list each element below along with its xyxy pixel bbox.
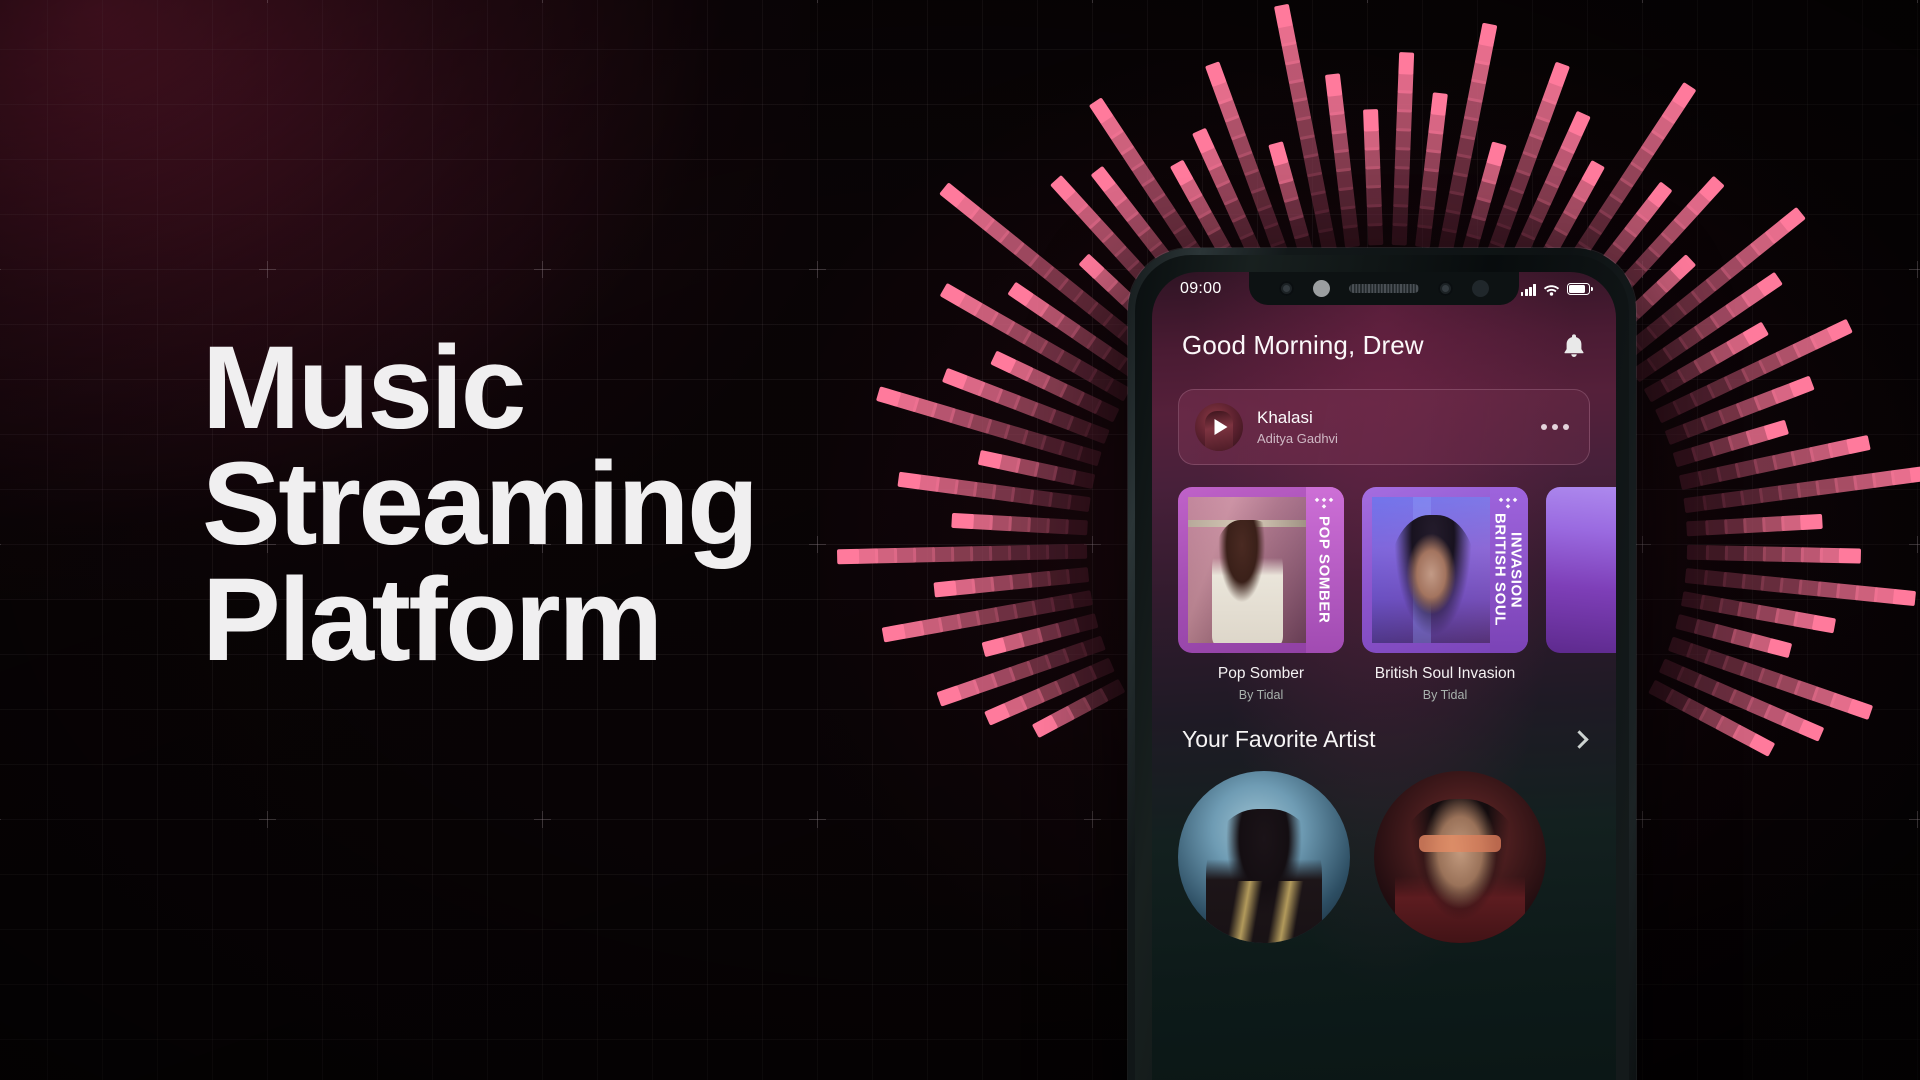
now-playing-artist: Aditya Gadhvi <box>1257 431 1527 446</box>
tidal-logo-icon <box>1497 495 1519 509</box>
photo-figure <box>1212 520 1283 643</box>
headline-line-1: Music <box>202 330 922 446</box>
favorite-artist-header[interactable]: Your Favorite Artist <box>1152 702 1616 753</box>
status-bar-icons <box>1521 283 1590 296</box>
now-playing-artwork[interactable] <box>1195 403 1243 451</box>
phone-mockup: 09:00 Good Morning, Drew <box>1128 248 1636 1080</box>
signal-icon <box>1521 283 1536 296</box>
app-header: Good Morning, Drew <box>1152 306 1616 361</box>
album-card-pop-somber[interactable]: POP SOMBER Pop Somber By Tidal <box>1178 487 1344 702</box>
cover-word-2: INVASION <box>1509 532 1524 608</box>
wifi-icon <box>1543 283 1560 296</box>
cover-word-1: BRITISH SOUL <box>1493 513 1508 626</box>
album-cover[interactable]: BRITISH SOUL INVASION <box>1362 487 1528 653</box>
hero-headline: Music Streaming Platform <box>202 330 922 679</box>
app-content: Good Morning, Drew Khalasi <box>1152 306 1616 1080</box>
album-publisher: By Tidal <box>1362 688 1528 702</box>
album-card-next-partial[interactable] <box>1546 487 1616 702</box>
album-cover[interactable]: POP SOMBER <box>1178 487 1344 653</box>
album-cover-photo <box>1188 497 1310 643</box>
greeting-title: Good Morning, Drew <box>1182 330 1424 361</box>
artist-strap <box>1216 881 1312 943</box>
artist-figure <box>1395 799 1526 943</box>
album-publisher: By Tidal <box>1178 688 1344 702</box>
album-title: British Soul Invasion <box>1362 665 1528 683</box>
more-horizontal-icon[interactable] <box>1541 424 1573 430</box>
headline-line-3: Platform <box>202 562 922 678</box>
status-bar: 09:00 <box>1152 272 1616 306</box>
now-playing-meta: Khalasi Aditya Gadhvi <box>1257 408 1527 446</box>
photo-figure <box>1389 515 1477 643</box>
album-title: Pop Somber <box>1178 665 1344 683</box>
artist-avatar[interactable] <box>1374 771 1546 943</box>
cover-word-1: POP SOMBER <box>1317 516 1332 623</box>
album-cover-photo <box>1372 497 1494 643</box>
album-cover[interactable] <box>1546 487 1616 653</box>
play-icon[interactable] <box>1215 419 1228 435</box>
favorite-artist-list[interactable] <box>1152 753 1616 943</box>
album-cover-vertical-text: BRITISH SOUL INVASION <box>1488 487 1528 653</box>
now-playing-title: Khalasi <box>1257 408 1527 428</box>
now-playing-card[interactable]: Khalasi Aditya Gadhvi <box>1178 389 1590 465</box>
phone-bezel: 09:00 Good Morning, Drew <box>1135 255 1629 1080</box>
album-card-british-soul-invasion[interactable]: BRITISH SOUL INVASION British Soul Invas… <box>1362 487 1528 702</box>
album-cover-vertical-text: POP SOMBER <box>1304 487 1344 653</box>
headline-line-2: Streaming <box>202 446 922 562</box>
bell-icon[interactable] <box>1562 333 1586 359</box>
tidal-logo-icon <box>1313 495 1335 509</box>
status-bar-time: 09:00 <box>1180 280 1222 298</box>
phone-screen: 09:00 Good Morning, Drew <box>1152 272 1616 1080</box>
section-title: Your Favorite Artist <box>1182 726 1375 753</box>
hero-banner: Music Streaming Platform 09:00 <box>0 0 1920 1080</box>
chevron-right-icon[interactable] <box>1570 730 1588 748</box>
battery-icon <box>1567 283 1590 295</box>
artist-sunglasses <box>1419 835 1502 852</box>
artist-avatar[interactable] <box>1178 771 1350 943</box>
album-carousel[interactable]: POP SOMBER Pop Somber By Tidal <box>1152 465 1616 702</box>
